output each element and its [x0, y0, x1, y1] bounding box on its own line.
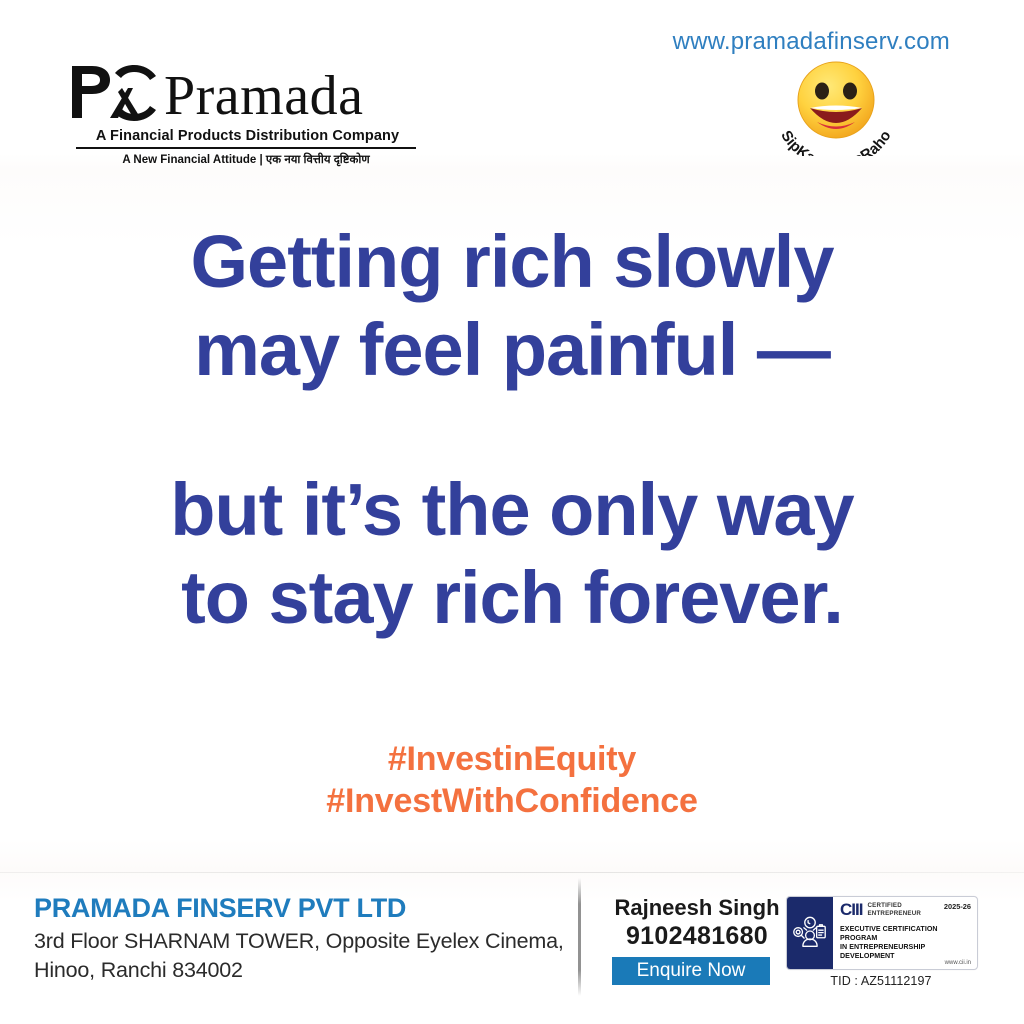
headline: Getting rich slowly may feel painful — b…	[0, 218, 1024, 642]
contact-phone-number[interactable]: 9102481680	[612, 921, 782, 951]
headline-line-2: may feel painful —	[0, 306, 1024, 394]
logo-rule	[76, 147, 416, 149]
entrepreneur-development-icon	[787, 897, 833, 969]
enquire-now-button[interactable]: Enquire Now	[612, 957, 770, 985]
address-line-1: 3rd Floor SHARNAM TOWER, Opposite Eyelex…	[34, 927, 564, 956]
sip-karo-khus-raho-badge: SipKaroKhusRaho	[760, 52, 912, 156]
cii-program-line-2: IN ENTREPRENEURSHIP DEVELOPMENT	[840, 943, 971, 961]
hashtag-1[interactable]: #InvestinEquity	[0, 738, 1024, 780]
headline-line-4: to stay rich forever.	[0, 554, 1024, 642]
footer: PRAMADA FINSERV PVT LTD 3rd Floor SHARNA…	[0, 872, 1024, 1024]
cii-cert-lines: CERTIFIED ENTREPRENEUR	[867, 902, 921, 917]
hashtag-block: #InvestinEquity #InvestWithConfidence	[0, 738, 1024, 822]
company-name: PRAMADA FINSERV PVT LTD	[34, 892, 564, 924]
cii-program-line-1: EXECUTIVE CERTIFICATION PROGRAM	[840, 925, 971, 943]
headline-spacer	[0, 394, 1024, 466]
header: Pramada A Financial Products Distributio…	[0, 0, 1024, 160]
logo-subtagline: A New Financial Attitude | एक नया वित्ती…	[70, 152, 422, 167]
cii-website: www.cii.in	[945, 960, 971, 966]
brand-logo: Pramada A Financial Products Distributio…	[70, 62, 430, 167]
cii-logo-text: CIII	[840, 902, 862, 918]
logo-tagline: A Financial Products Distribution Compan…	[70, 128, 425, 144]
company-address-block: PRAMADA FINSERV PVT LTD 3rd Floor SHARNA…	[34, 892, 564, 985]
cii-certification-badge: 2025-26 CIII CERTIFIED ENTREPRENEUR EXEC…	[786, 896, 978, 988]
pac-monogram-icon	[70, 62, 158, 124]
footer-divider-horizontal	[0, 872, 1024, 873]
cii-cert-line-1: CERTIFIED	[867, 902, 921, 910]
cii-year: 2025-26	[944, 902, 971, 911]
contact-person-name: Rajneesh Singh	[612, 894, 782, 921]
cii-text-area: 2025-26 CIII CERTIFIED ENTREPRENEUR EXEC…	[833, 897, 977, 969]
cii-cert-line-2: ENTREPRENEUR	[867, 910, 921, 918]
cii-tid: TID : AZ51112197	[786, 974, 976, 988]
logo-row: Pramada	[70, 62, 430, 124]
poster-canvas: Pramada A Financial Products Distributio…	[0, 0, 1024, 1024]
hashtag-2[interactable]: #InvestWithConfidence	[0, 780, 1024, 822]
headline-line-3: but it’s the only way	[0, 466, 1024, 554]
contact-block: Rajneesh Singh 9102481680 Enquire Now	[612, 894, 782, 985]
cii-card: 2025-26 CIII CERTIFIED ENTREPRENEUR EXEC…	[786, 896, 978, 970]
address-line-2: Hinoo, Ranchi 834002	[34, 956, 564, 985]
headline-line-1: Getting rich slowly	[0, 218, 1024, 306]
footer-divider-vertical	[578, 878, 581, 996]
logo-wordmark: Pramada	[164, 68, 363, 124]
